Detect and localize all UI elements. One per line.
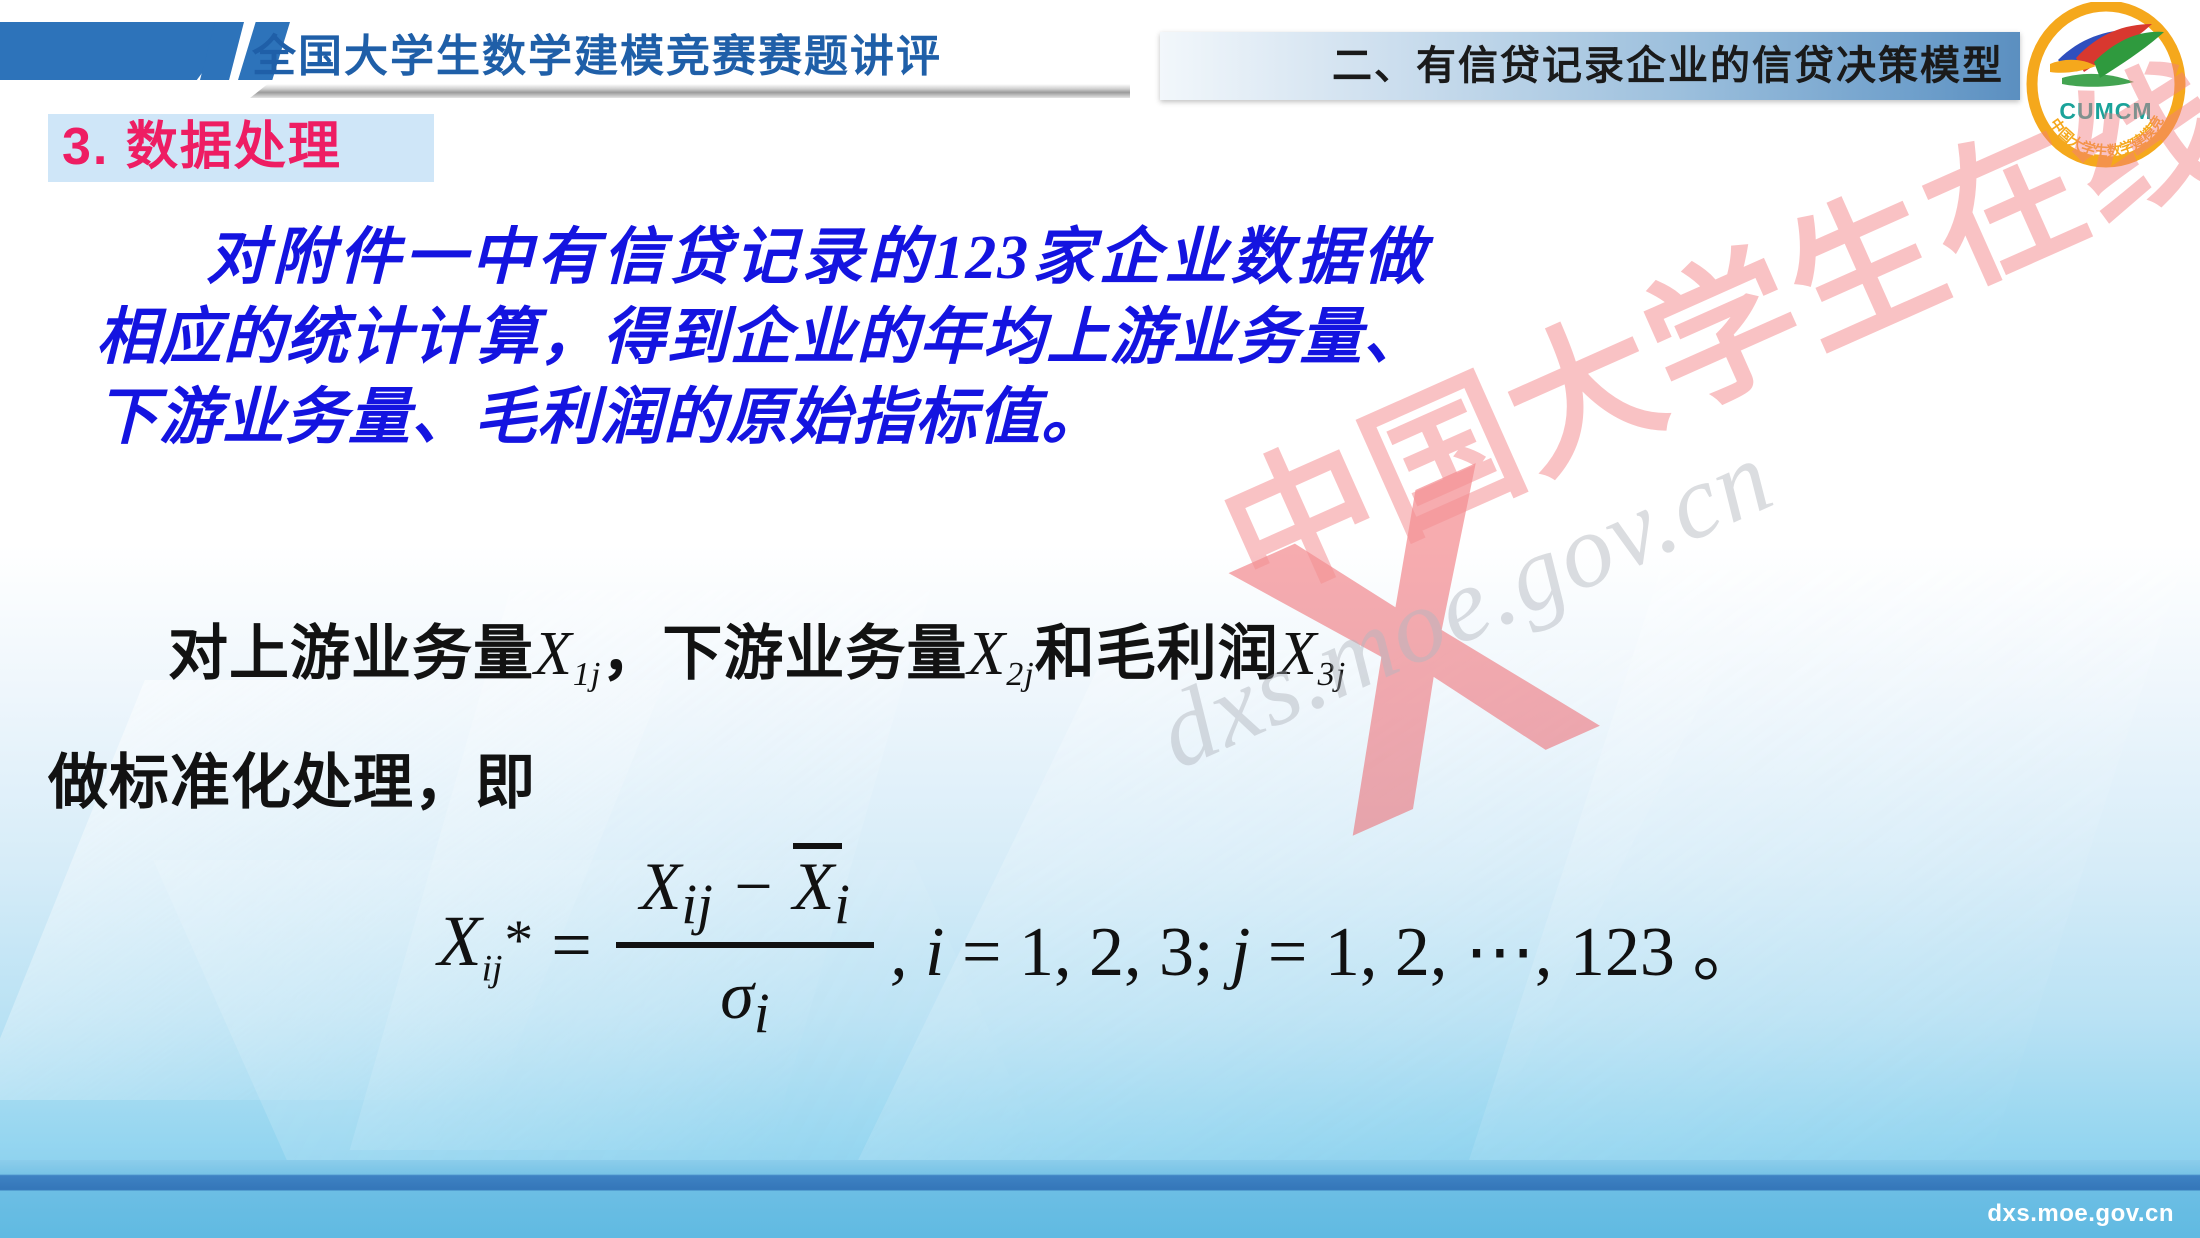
section-title: 3. 数据处理: [62, 112, 342, 182]
formula-den-base: σ: [720, 957, 754, 1033]
formula-condition-j-values: = 1, 2, ⋯, 123 。: [1268, 914, 1762, 991]
formula-row: Xij* = Xij − Xi σi , i = 1, 2, 3; j = 1,…: [438, 845, 1763, 1046]
formula-lhs-subscript: ij: [482, 949, 503, 990]
variable-x2j-base: X: [967, 620, 1006, 688]
formula-num-right-subscript: i: [834, 875, 850, 937]
variable-x3j-base: X: [1279, 620, 1318, 688]
formula-fraction: Xij − Xi σi: [616, 845, 874, 1046]
black-seg-4: 做标准化处理，即: [48, 750, 536, 816]
formula-num-left-subscript: ij: [681, 875, 712, 937]
variable-x2j-subscript: 2j: [1006, 656, 1035, 693]
svg-text:CUMCM: CUMCM: [2059, 98, 2152, 124]
formula-condition-i: , i: [890, 914, 944, 991]
header-right-title: 二、有信贷记录企业的信贷决策模型: [1164, 38, 2004, 94]
formula-conditions: , i = 1, 2, 3; j = 1, 2, ⋯, 123 。: [890, 895, 1762, 996]
formula-lhs-star: *: [504, 909, 533, 972]
variable-x1j-base: X: [534, 620, 573, 688]
header-left-title: 全国大学生数学建模竞赛赛题讲评: [252, 20, 942, 84]
formula-equals: =: [551, 904, 592, 987]
footer-band: [0, 1160, 2200, 1238]
formula-num-right-mean: Xi: [793, 845, 850, 938]
variable-x1j: X1j: [534, 620, 601, 688]
header-gray-rule: [250, 84, 1130, 98]
variable-x3j-subscript: 3j: [1318, 656, 1347, 693]
black-seg-3: 和毛利润: [1035, 621, 1279, 687]
formula-numerator: Xij − Xi: [616, 845, 874, 942]
black-seg-1: 对上游业务量: [168, 621, 534, 687]
variable-x1j-subscript: 1j: [573, 656, 602, 693]
formula-den-subscript: i: [754, 983, 770, 1045]
formula-minus: −: [730, 848, 776, 924]
formula-condition-j: j: [1231, 914, 1250, 991]
variable-x3j: X3j: [1279, 620, 1346, 688]
cumcm-logo-icon: CUMCM 中国大学生数学建模竞赛: [2024, 2, 2188, 168]
slide-canvas: 全国大学生数学建模竞赛赛题讲评 二、有信贷记录企业的信贷决策模型 CUMCM 中…: [0, 0, 2200, 1238]
formula-lhs: Xij*: [438, 900, 534, 991]
standardization-formula: Xij* = Xij − Xi σi , i = 1, 2, 3; j = 1,…: [0, 845, 2200, 1046]
formula-lhs-base: X: [438, 901, 482, 981]
formula-num-right-base: X: [793, 848, 835, 924]
footer-url: dxs.moe.gov.cn: [1987, 1200, 2174, 1228]
formula-condition-i-values: = 1, 2, 3;: [962, 914, 1231, 991]
body-paragraph-blue: 对附件一中有信贷记录的123家企业数据做相应的统计计算，得到企业的年均上游业务量…: [96, 218, 1426, 458]
formula-num-left-base: X: [640, 848, 682, 924]
variable-x2j: X2j: [967, 620, 1034, 688]
black-seg-2: ，下游业务量: [601, 621, 967, 687]
body-paragraph-black: 对上游业务量X1j，下游业务量X2j和毛利润X3j做标准化处理，即: [48, 600, 2138, 837]
formula-denominator: σi: [696, 948, 793, 1047]
